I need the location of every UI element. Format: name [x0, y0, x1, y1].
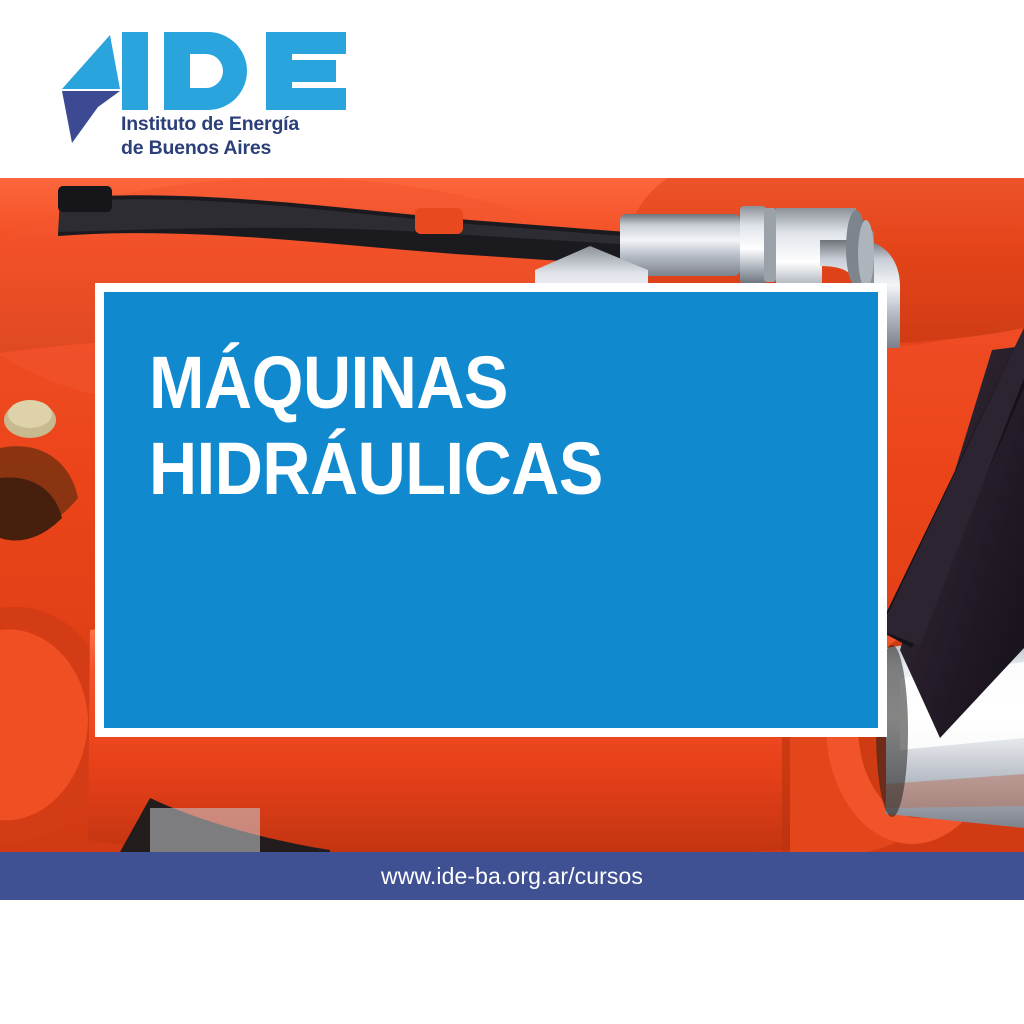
- ide-logo: Instituto de Energía de Buenos Aires: [58, 30, 358, 160]
- ide-subtitle: Instituto de Energía de Buenos Aires: [121, 113, 361, 160]
- title-card: MÁQUINAS HIDRÁULICAS: [95, 283, 887, 737]
- poster-header: Instituto de Energía de Buenos Aires: [0, 0, 1024, 178]
- ide-subtitle-line2: de Buenos Aires: [121, 137, 361, 161]
- title-card-panel: MÁQUINAS HIDRÁULICAS: [104, 292, 878, 728]
- sponsor-footer: FREBA FORO REGIONAL ELECTRICO DE BS.AS.: [0, 900, 1024, 1024]
- ide-wordmark: [120, 30, 350, 112]
- ide-subtitle-line1: Instituto de Energía: [121, 113, 361, 137]
- course-poster: Instituto de Energía de Buenos Aires: [0, 0, 1024, 1024]
- hero-photo: MÁQUINAS HIDRÁULICAS: [0, 178, 1024, 852]
- website-url-bar[interactable]: www.ide-ba.org.ar/cursos: [0, 852, 1024, 900]
- course-title-line1: MÁQUINAS: [149, 340, 508, 426]
- course-title-line2: HIDRÁULICAS: [149, 426, 603, 512]
- website-url-text[interactable]: www.ide-ba.org.ar/cursos: [381, 863, 643, 890]
